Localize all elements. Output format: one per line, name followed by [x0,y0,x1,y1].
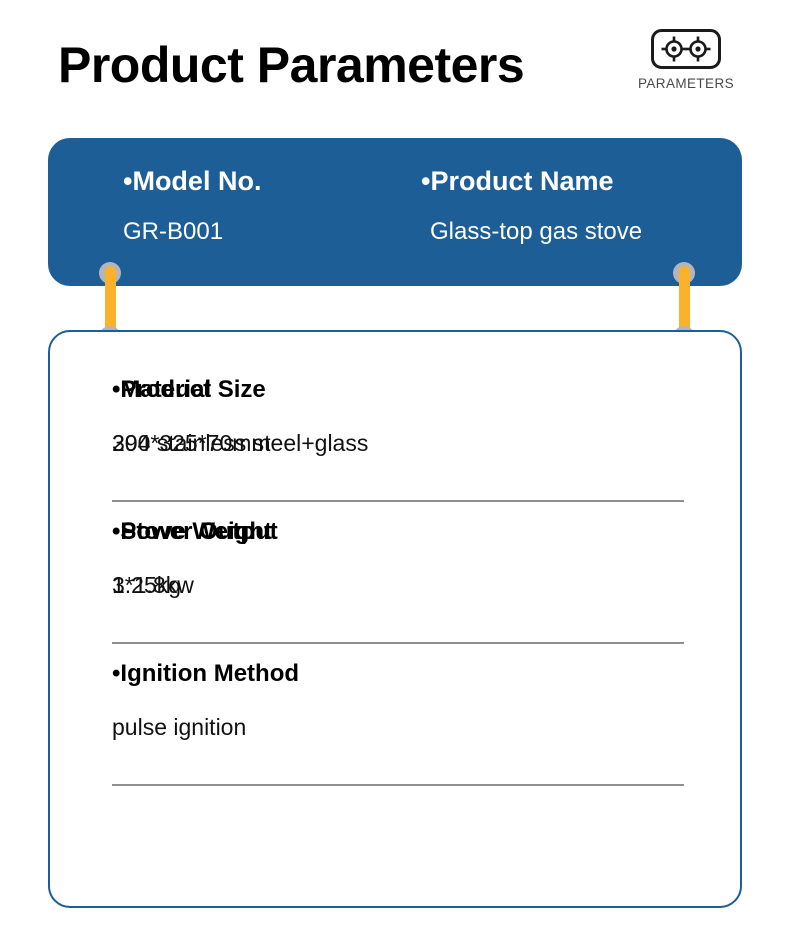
spec-row-separator [112,784,684,786]
header-field-label: •Model No. [123,166,261,197]
spec-label-stove-weight: •Stove Weight [112,518,272,546]
spec-value-stove-weight: 3.25kg [112,572,181,599]
spec-row: •Ignition Method pulse ignition [112,644,684,786]
spec-row-labels: •Ignition Method [112,644,684,706]
spec-row-labels: •Power Output •Stove Weight [112,502,684,564]
spec-row-values: 1*1.8kw 3.25kg [112,564,684,626]
header-summary-card: •Model No. GR-B001 •Product Name Glass-t… [48,138,742,286]
header-field-model-no: •Model No. GR-B001 [123,138,423,286]
spec-value-product-size: 290*325*70mm [112,430,271,457]
spec-value-ignition-method: pulse ignition [112,714,246,741]
spec-row-labels: •Material •Product Size [112,360,684,422]
badge-caption: PARAMETERS [638,76,734,91]
specifications-card: •Material •Product Size 304 stainless st… [48,330,742,908]
spec-row: •Power Output •Stove Weight 1*1.8kw 3.25… [112,502,684,644]
page-header: Product Parameters [0,0,790,130]
gas-stove-two-burner-icon [650,28,722,70]
spec-row-values: 304 stainless steel+glass 290*325*70mm [112,422,684,484]
specifications-list: •Material •Product Size 304 stainless st… [112,360,684,786]
spec-row-values: pulse ignition [112,706,684,768]
header-badge: PARAMETERS [630,28,742,91]
header-field-value: GR-B001 [123,218,223,246]
header-field-value: Glass-top gas stove [430,218,642,246]
spec-label-product-size: •Product Size [112,376,266,404]
header-field-label: •Product Name [421,166,614,197]
page-title: Product Parameters [58,40,524,90]
spec-row: •Material •Product Size 304 stainless st… [112,360,684,502]
spec-label-ignition-method: •Ignition Method [112,660,299,688]
